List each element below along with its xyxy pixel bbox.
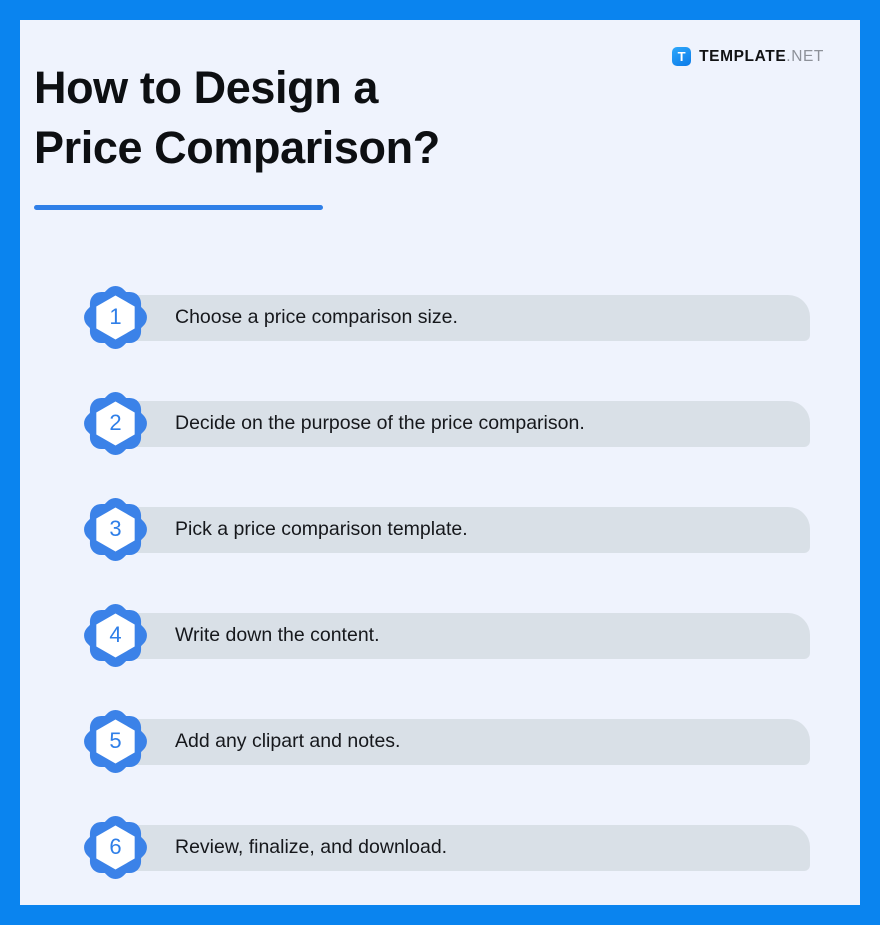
step-text: Review, finalize, and download. xyxy=(175,825,447,871)
brand-wordmark: TEMPLATE.NET xyxy=(699,49,824,65)
step-number: 1 xyxy=(80,282,151,353)
step-number: 6 xyxy=(80,812,151,883)
step-number: 3 xyxy=(80,494,151,565)
step-number: 4 xyxy=(80,600,151,671)
brand-mark-letter: T xyxy=(678,50,686,63)
list-item: 1 Choose a price comparison size. xyxy=(20,282,860,353)
step-text: Pick a price comparison template. xyxy=(175,507,468,553)
step-text: Add any clipart and notes. xyxy=(175,719,400,765)
template-net-logo-icon: T xyxy=(672,47,691,66)
infographic-poster: T TEMPLATE.NET How to Design a Price Com… xyxy=(0,0,880,925)
step-number: 2 xyxy=(80,388,151,459)
step-number-badge: 3 xyxy=(80,494,151,565)
list-item: 5 Add any clipart and notes. xyxy=(20,706,860,777)
list-item: 6 Review, finalize, and download. xyxy=(20,812,860,883)
step-number-badge: 1 xyxy=(80,282,151,353)
title-underline-rule xyxy=(34,205,323,210)
step-number-badge: 6 xyxy=(80,812,151,883)
list-item: 3 Pick a price comparison template. xyxy=(20,494,860,565)
page-title: How to Design a Price Comparison? xyxy=(34,58,440,178)
step-text: Choose a price comparison size. xyxy=(175,295,458,341)
step-number: 5 xyxy=(80,706,151,777)
list-item: 2 Decide on the purpose of the price com… xyxy=(20,388,860,459)
step-number-badge: 5 xyxy=(80,706,151,777)
step-text: Write down the content. xyxy=(175,613,380,659)
step-number-badge: 4 xyxy=(80,600,151,671)
page-title-line-2: Price Comparison? xyxy=(34,122,440,173)
list-item: 4 Write down the content. xyxy=(20,600,860,671)
step-number-badge: 2 xyxy=(80,388,151,459)
brand-logo: T TEMPLATE.NET xyxy=(672,47,824,66)
steps-list: 1 Choose a price comparison size. 2 xyxy=(20,282,860,883)
brand-name-bold: TEMPLATE xyxy=(699,48,786,65)
page-title-line-1: How to Design a xyxy=(34,62,378,113)
brand-name-tld: .NET xyxy=(786,48,824,65)
step-text: Decide on the purpose of the price compa… xyxy=(175,401,585,447)
